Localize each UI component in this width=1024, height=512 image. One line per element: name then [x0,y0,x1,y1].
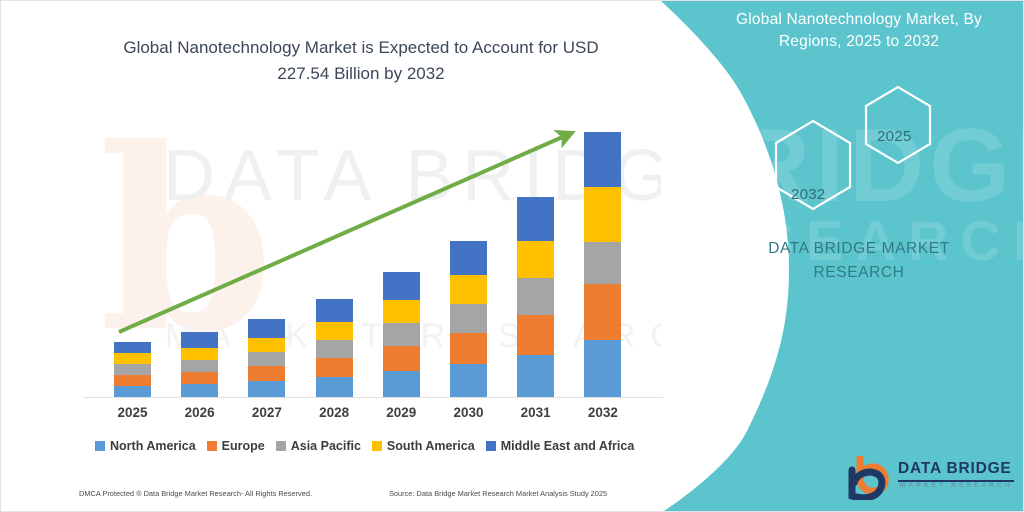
bar-segment-2026-north-america[interactable] [181,384,218,397]
bar-2027[interactable] [248,319,285,397]
legend-item-asia-pacific[interactable]: Asia Pacific [276,439,361,453]
side-panel-title-line1: Global Nanotechnology Market, By [709,9,1009,31]
stacked-bar-chart: 20252026202720282029203020312032 [1,1,701,512]
bar-2028[interactable] [316,299,353,397]
bar-segment-2032-middle-east-and-africa[interactable] [584,132,621,187]
hexagon-label-2032: 2032 [791,186,826,203]
bar-2030[interactable] [450,241,487,397]
bar-segment-2027-middle-east-and-africa[interactable] [248,319,285,338]
legend-item-south-america[interactable]: South America [372,439,475,453]
bar-segment-2031-middle-east-and-africa[interactable] [517,197,554,241]
bar-segment-2028-south-america[interactable] [316,322,353,340]
bar-segment-2030-europe[interactable] [450,333,487,364]
legend-label: Asia Pacific [291,439,361,453]
side-panel-brand-line2: RESEARCH [709,261,1009,285]
bar-segment-2030-north-america[interactable] [450,364,487,397]
bar-segment-2031-europe[interactable] [517,315,554,355]
x-axis-label-2030: 2030 [439,405,499,420]
bar-segment-2032-asia-pacific[interactable] [584,242,621,284]
x-axis-label-2032: 2032 [573,405,633,420]
x-axis-label-2026: 2026 [170,405,230,420]
bar-segment-2025-south-america[interactable] [114,353,151,364]
bar-segment-2031-north-america[interactable] [517,355,554,397]
legend-label: North America [110,439,196,453]
bar-segment-2032-south-america[interactable] [584,187,621,242]
legend-item-europe[interactable]: Europe [207,439,265,453]
bar-segment-2027-south-america[interactable] [248,338,285,352]
legend-item-north-america[interactable]: North America [95,439,196,453]
x-axis-label-2029: 2029 [371,405,431,420]
chart-legend: North AmericaEuropeAsia PacificSouth Ame… [95,439,634,453]
bar-segment-2030-asia-pacific[interactable] [450,304,487,333]
legend-label: Europe [222,439,265,453]
bar-segment-2026-asia-pacific[interactable] [181,360,218,372]
bar-segment-2028-north-america[interactable] [316,377,353,397]
legend-swatch-icon [207,441,217,451]
side-panel-title-line2: Regions, 2025 to 2032 [709,31,1009,53]
x-axis-label-2028: 2028 [304,405,364,420]
bar-segment-2027-europe[interactable] [248,366,285,381]
bar-segment-2029-middle-east-and-africa[interactable] [383,272,420,300]
bar-segment-2030-south-america[interactable] [450,275,487,304]
dbmr-logo-mark [846,456,898,500]
dbmr-logo-tagline: MARKET RESEARCH [900,482,1013,489]
x-axis-line [83,397,663,398]
dbmr-logo: DATA BRIDGE MARKET RESEARCH [846,456,898,505]
bar-segment-2031-asia-pacific[interactable] [517,278,554,315]
x-axis-label-2031: 2031 [506,405,566,420]
bar-segment-2026-europe[interactable] [181,372,218,384]
bar-2032[interactable] [584,132,621,397]
bar-segment-2032-north-america[interactable] [584,340,621,397]
side-panel-title: Global Nanotechnology Market, By Regions… [709,9,1009,54]
bar-segment-2026-middle-east-and-africa[interactable] [181,332,218,348]
bar-segment-2027-asia-pacific[interactable] [248,352,285,366]
bar-2025[interactable] [114,342,151,397]
legend-swatch-icon [95,441,105,451]
bar-segment-2028-middle-east-and-africa[interactable] [316,299,353,322]
bar-segment-2032-europe[interactable] [584,284,621,340]
dbmr-logo-name: DATA BRIDGE [898,460,1012,478]
bar-segment-2029-south-america[interactable] [383,300,420,323]
legend-item-middle-east-and-africa[interactable]: Middle East and Africa [486,439,635,453]
hexagon-2025-shape [866,87,930,163]
legend-swatch-icon [276,441,286,451]
side-panel: BRIDGE RESEARCH Global Nanotechnology Ma… [661,1,1024,512]
bar-segment-2025-north-america[interactable] [114,386,151,397]
bar-segment-2029-asia-pacific[interactable] [383,323,420,346]
bar-segment-2025-middle-east-and-africa[interactable] [114,342,151,353]
bar-2031[interactable] [517,197,554,397]
bar-segment-2031-south-america[interactable] [517,241,554,278]
x-axis-label-2025: 2025 [103,405,163,420]
legend-swatch-icon [372,441,382,451]
hexagon-label-2025: 2025 [877,128,912,145]
bar-segment-2027-north-america[interactable] [248,381,285,397]
bar-segment-2030-middle-east-and-africa[interactable] [450,241,487,275]
footer-dmca-notice: DMCA Protected ® Data Bridge Market Rese… [79,489,312,498]
infographic-canvas: b DATA BRIDGE MARKET RESEARCH Global Nan… [0,0,1024,512]
bar-segment-2025-asia-pacific[interactable] [114,364,151,375]
footer-source-note: Source: Data Bridge Market Research Mark… [389,489,607,498]
bar-2029[interactable] [383,272,420,397]
x-axis-label-2027: 2027 [237,405,297,420]
bar-2026[interactable] [181,332,218,397]
bar-segment-2028-europe[interactable] [316,358,353,377]
bar-segment-2028-asia-pacific[interactable] [316,340,353,358]
legend-label: South America [387,439,475,453]
legend-label: Middle East and Africa [501,439,635,453]
side-panel-brand-line1: DATA BRIDGE MARKET [709,237,1009,261]
bar-segment-2029-europe[interactable] [383,346,420,371]
legend-swatch-icon [486,441,496,451]
bar-segment-2026-south-america[interactable] [181,348,218,360]
bar-segment-2029-north-america[interactable] [383,371,420,397]
bar-segment-2025-europe[interactable] [114,375,151,386]
